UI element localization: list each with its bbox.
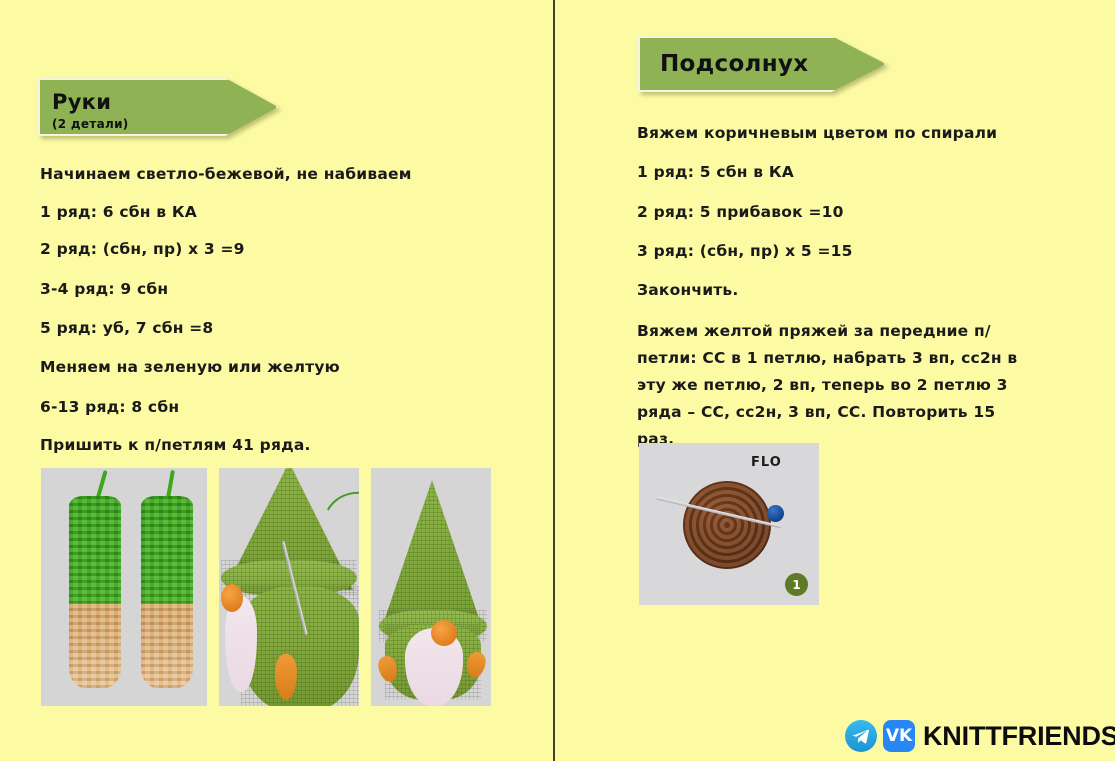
banner-subtitle-arms: (2 детали) bbox=[52, 117, 276, 131]
right-line-2: 2 ряд: 5 прибавок =10 bbox=[637, 203, 844, 221]
left-line-1: 1 ряд: 6 сбн в КА bbox=[40, 203, 197, 221]
left-line-3: 3-4 ряд: 9 сбн bbox=[40, 280, 168, 298]
step-badge: 1 bbox=[785, 573, 808, 596]
right-line-3: 3 ряд: (сбн, пр) x 5 =15 bbox=[637, 242, 853, 260]
photo-finished-gnome bbox=[371, 468, 491, 706]
vk-icon[interactable]: VK bbox=[883, 720, 915, 752]
banner-title-arms: Руки bbox=[52, 90, 276, 114]
gnome-nose bbox=[221, 584, 243, 612]
left-line-4: 5 ряд: уб, 7 сбн =8 bbox=[40, 319, 213, 337]
banner-title-sunflower: Подсолнух bbox=[660, 51, 884, 77]
flo-label: FLO bbox=[751, 455, 782, 470]
gnome-nose bbox=[431, 620, 457, 646]
banner-shape: Руки (2 детали) bbox=[38, 78, 278, 136]
brand-name: KNITTFRIENDS bbox=[923, 721, 1115, 752]
telegram-icon[interactable] bbox=[845, 720, 877, 752]
left-line-2: 2 ряд: (сбн, пр) x 3 =9 bbox=[40, 240, 245, 258]
crochet-arm-right bbox=[141, 496, 193, 688]
right-line-4: Закончить. bbox=[637, 281, 739, 299]
section-banner-sunflower: Подсолнух bbox=[638, 36, 886, 92]
photo-flo-brown-disc: FLO 1 bbox=[639, 443, 819, 605]
right-line-0: Вяжем коричневым цветом по спирали bbox=[637, 124, 997, 142]
right-column: Подсолнух Вяжем коричневым цветом по спи… bbox=[555, 0, 1115, 761]
footer-branding: VK KNITTFRIENDS bbox=[845, 720, 1115, 752]
pin-head bbox=[767, 505, 784, 522]
right-line-1: 1 ряд: 5 сбн в КА bbox=[637, 163, 794, 181]
brown-crochet-disc bbox=[683, 481, 771, 569]
left-line-0: Начинаем светло-бежевой, не набиваем bbox=[40, 165, 412, 183]
section-banner-arms: Руки (2 детали) bbox=[38, 78, 278, 136]
left-line-5: Меняем на зеленую или желтую bbox=[40, 358, 340, 376]
photo-two-crochet-arms bbox=[41, 468, 207, 706]
photo-gnome-assembly bbox=[219, 468, 359, 706]
right-paragraph: Вяжем желтой пряжей за передние п/петли:… bbox=[637, 318, 1031, 453]
left-column: Руки (2 детали) Начинаем светло-бежевой,… bbox=[0, 0, 553, 761]
banner-shape: Подсолнух bbox=[638, 36, 886, 92]
crochet-arm-left bbox=[69, 496, 121, 688]
vk-icon-label: VK bbox=[886, 726, 912, 746]
left-line-6: 6-13 ряд: 8 сбн bbox=[40, 398, 179, 416]
left-line-7: Пришить к п/петлям 41 ряда. bbox=[40, 436, 311, 454]
pattern-page: Руки (2 детали) Начинаем светло-бежевой,… bbox=[0, 0, 1115, 761]
